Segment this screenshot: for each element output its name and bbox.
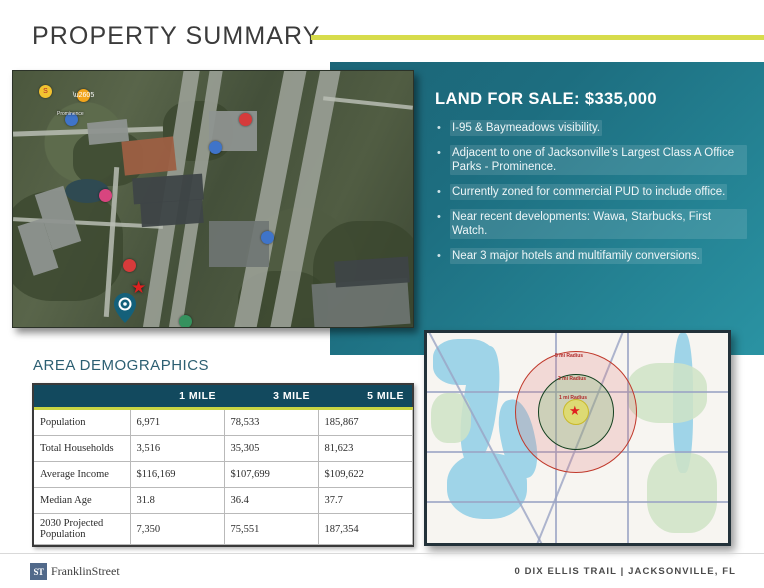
list-item: • I-95 & Baymeadows visibility. bbox=[437, 120, 747, 136]
cell-1mile: 7,350 bbox=[130, 514, 224, 545]
cell-3mile: 36.4 bbox=[224, 488, 318, 514]
logo-mark-icon: ST bbox=[30, 563, 47, 580]
cell-1mile: 6,971 bbox=[130, 409, 224, 436]
poi-retail-icon[interactable] bbox=[99, 189, 112, 202]
list-item: • Near 3 major hotels and multifamily co… bbox=[437, 248, 747, 264]
building bbox=[121, 136, 176, 175]
bullet-icon: • bbox=[437, 145, 450, 160]
offering-bullet-list: • I-95 & Baymeadows visibility. • Adjace… bbox=[437, 120, 747, 273]
row-label: 2030 Projected Population bbox=[34, 514, 130, 545]
row-label: Population bbox=[34, 409, 130, 436]
building bbox=[87, 119, 129, 145]
cell-3mile: $107,699 bbox=[224, 462, 318, 488]
cell-5mile: 37.7 bbox=[318, 488, 412, 514]
building bbox=[334, 256, 410, 287]
bullet-icon: • bbox=[437, 209, 450, 224]
cell-1mile: $116,169 bbox=[130, 462, 224, 488]
cell-5mile: 81,623 bbox=[318, 436, 412, 462]
list-item: • Near recent developments: Wawa, Starbu… bbox=[437, 209, 747, 239]
demographics-table: 1 MILE 3 MILE 5 MILE Population 6,971 78… bbox=[34, 385, 413, 545]
table-row: Population 6,971 78,533 185,867 bbox=[34, 409, 412, 436]
column-header-blank bbox=[34, 385, 130, 409]
table-row: Total Households 3,516 35,305 81,623 bbox=[34, 436, 412, 462]
row-label: Total Households bbox=[34, 436, 130, 462]
cell-1mile: 3,516 bbox=[130, 436, 224, 462]
franklin-street-logo: ST FranklinStreet bbox=[30, 563, 120, 580]
column-header-1mile: 1 MILE bbox=[130, 385, 224, 409]
green-space bbox=[647, 453, 717, 533]
location-pin-icon[interactable] bbox=[114, 293, 136, 323]
bullet-icon: • bbox=[437, 120, 450, 135]
bullet-text: Near 3 major hotels and multifamily conv… bbox=[450, 248, 702, 264]
footer-address: 0 DIX ELLIS TRAIL | JACKSONVILLE, FL bbox=[514, 566, 736, 577]
cell-5mile: 187,354 bbox=[318, 514, 412, 545]
cell-3mile: 75,551 bbox=[224, 514, 318, 545]
poi-business-icon[interactable] bbox=[209, 141, 222, 154]
list-item: • Adjacent to one of Jacksonville’s Larg… bbox=[437, 145, 747, 175]
demographics-table-wrapper: 1 MILE 3 MILE 5 MILE Population 6,971 78… bbox=[32, 383, 414, 547]
cell-5mile: $109,622 bbox=[318, 462, 412, 488]
column-header-3mile: 3 MILE bbox=[224, 385, 318, 409]
table-row: Median Age 31.8 36.4 37.7 bbox=[34, 488, 412, 514]
column-header-5mile: 5 MILE bbox=[318, 385, 412, 409]
demographics-title: AREA DEMOGRAPHICS bbox=[33, 357, 209, 374]
radius-center-star: ★ bbox=[569, 404, 581, 417]
poi-star-icon[interactable]: \u2605 bbox=[77, 89, 90, 102]
green-space bbox=[627, 363, 707, 423]
title-accent-rule bbox=[311, 35, 764, 40]
poi-label: Prominence bbox=[57, 111, 84, 117]
table-row: Average Income $116,169 $107,699 $109,62… bbox=[34, 462, 412, 488]
table-row: 2030 Projected Population 7,350 75,551 1… bbox=[34, 514, 412, 545]
cell-5mile: 185,867 bbox=[318, 409, 412, 436]
slide-property-summary: PROPERTY SUMMARY LAND FOR SALE: $335,000… bbox=[0, 0, 764, 588]
list-item: • Currently zoned for commercial PUD to … bbox=[437, 184, 747, 200]
poi-retail-icon[interactable] bbox=[123, 259, 136, 272]
row-label: Median Age bbox=[34, 488, 130, 514]
page-title: PROPERTY SUMMARY bbox=[32, 22, 321, 51]
bullet-text: Near recent developments: Wawa, Starbuck… bbox=[450, 209, 747, 239]
parking-lot bbox=[209, 221, 269, 267]
radius-map[interactable]: 5 mi Radius 3 mi Radius 1 mi Radius ★ bbox=[424, 330, 731, 546]
table-header-row: 1 MILE 3 MILE 5 MILE bbox=[34, 385, 412, 409]
row-label: Average Income bbox=[34, 462, 130, 488]
poi-business-icon[interactable] bbox=[261, 231, 274, 244]
poi-shell-icon[interactable]: S bbox=[39, 85, 52, 98]
radius-label-3mi: 3 mi Radius bbox=[558, 376, 586, 382]
poi-park-icon[interactable] bbox=[179, 315, 192, 328]
cell-3mile: 78,533 bbox=[224, 409, 318, 436]
cell-1mile: 31.8 bbox=[130, 488, 224, 514]
radius-label-1mi: 1 mi Radius bbox=[559, 395, 587, 401]
offering-heading: LAND FOR SALE: $335,000 bbox=[435, 90, 657, 109]
bullet-text: Adjacent to one of Jacksonville’s Larges… bbox=[450, 145, 747, 175]
radius-label-5mi: 5 mi Radius bbox=[555, 353, 583, 359]
cell-3mile: 35,305 bbox=[224, 436, 318, 462]
poi-hotel-icon[interactable] bbox=[239, 113, 252, 126]
bullet-icon: • bbox=[437, 248, 450, 263]
aerial-site-map[interactable]: S \u2605 Prominence ★ bbox=[12, 70, 414, 328]
footer-divider bbox=[0, 553, 764, 554]
road bbox=[427, 501, 728, 503]
building bbox=[140, 199, 204, 227]
bullet-icon: • bbox=[437, 184, 450, 199]
logo-wordmark: FranklinStreet bbox=[51, 564, 120, 579]
bullet-text: I-95 & Baymeadows visibility. bbox=[450, 120, 602, 136]
bullet-text: Currently zoned for commercial PUD to in… bbox=[450, 184, 727, 200]
